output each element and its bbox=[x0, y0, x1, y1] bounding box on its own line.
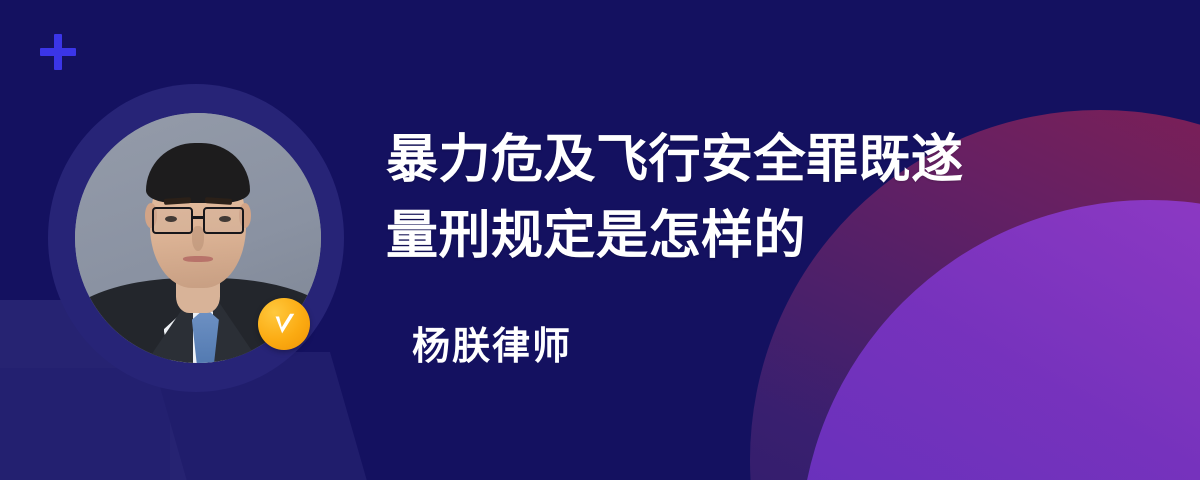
avatar bbox=[48, 84, 344, 392]
plus-icon bbox=[40, 34, 76, 70]
portrait-necktie bbox=[192, 308, 219, 363]
eyeglass-lens-right bbox=[203, 207, 243, 235]
portrait-nose bbox=[192, 226, 204, 251]
headline-block: 暴力危及飞行安全罪既遂 量刑规定是怎样的 bbox=[386, 122, 1086, 274]
eyeglass-lens-left bbox=[152, 207, 192, 235]
author-name-badge[interactable]: 杨朕律师 bbox=[378, 296, 712, 388]
page-title: 暴力危及飞行安全罪既遂 量刑规定是怎样的 bbox=[386, 122, 1086, 274]
verified-check-icon bbox=[258, 298, 310, 350]
eyeglass-bridge bbox=[193, 216, 204, 219]
promo-banner: 暴力危及飞行安全罪既遂 量刑规定是怎样的 杨朕律师 bbox=[0, 0, 1200, 480]
verified-check-glyph bbox=[269, 309, 299, 339]
plus-icon-vertical-bar bbox=[54, 34, 62, 70]
portrait-mouth bbox=[183, 256, 213, 263]
author-name-label: 杨朕律师 bbox=[412, 315, 572, 370]
